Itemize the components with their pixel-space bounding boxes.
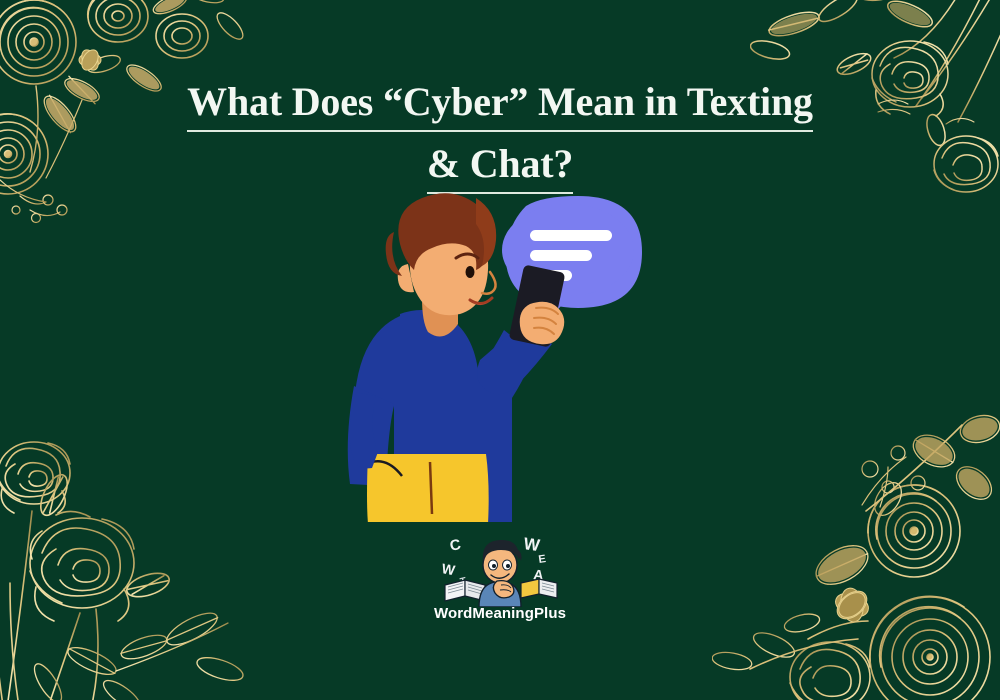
svg-text:W: W [522, 534, 541, 555]
texting-person-illustration [330, 186, 670, 522]
wordmeaningplus-logo-icon: C W W E A T [435, 529, 565, 607]
svg-text:E: E [538, 553, 547, 566]
page-title: What Does “Cyber” Mean in Texting & Chat… [0, 76, 1000, 194]
svg-text:C: C [448, 536, 462, 555]
svg-text:W: W [440, 560, 457, 578]
brand-watermark: C W W E A T [0, 529, 1000, 622]
page-title-line-1: What Does “Cyber” Mean in Texting [187, 76, 813, 132]
graphic-canvas: What Does “Cyber” Mean in Texting & Chat… [0, 0, 1000, 700]
brand-name-label: WordMeaningPlus [0, 605, 1000, 622]
